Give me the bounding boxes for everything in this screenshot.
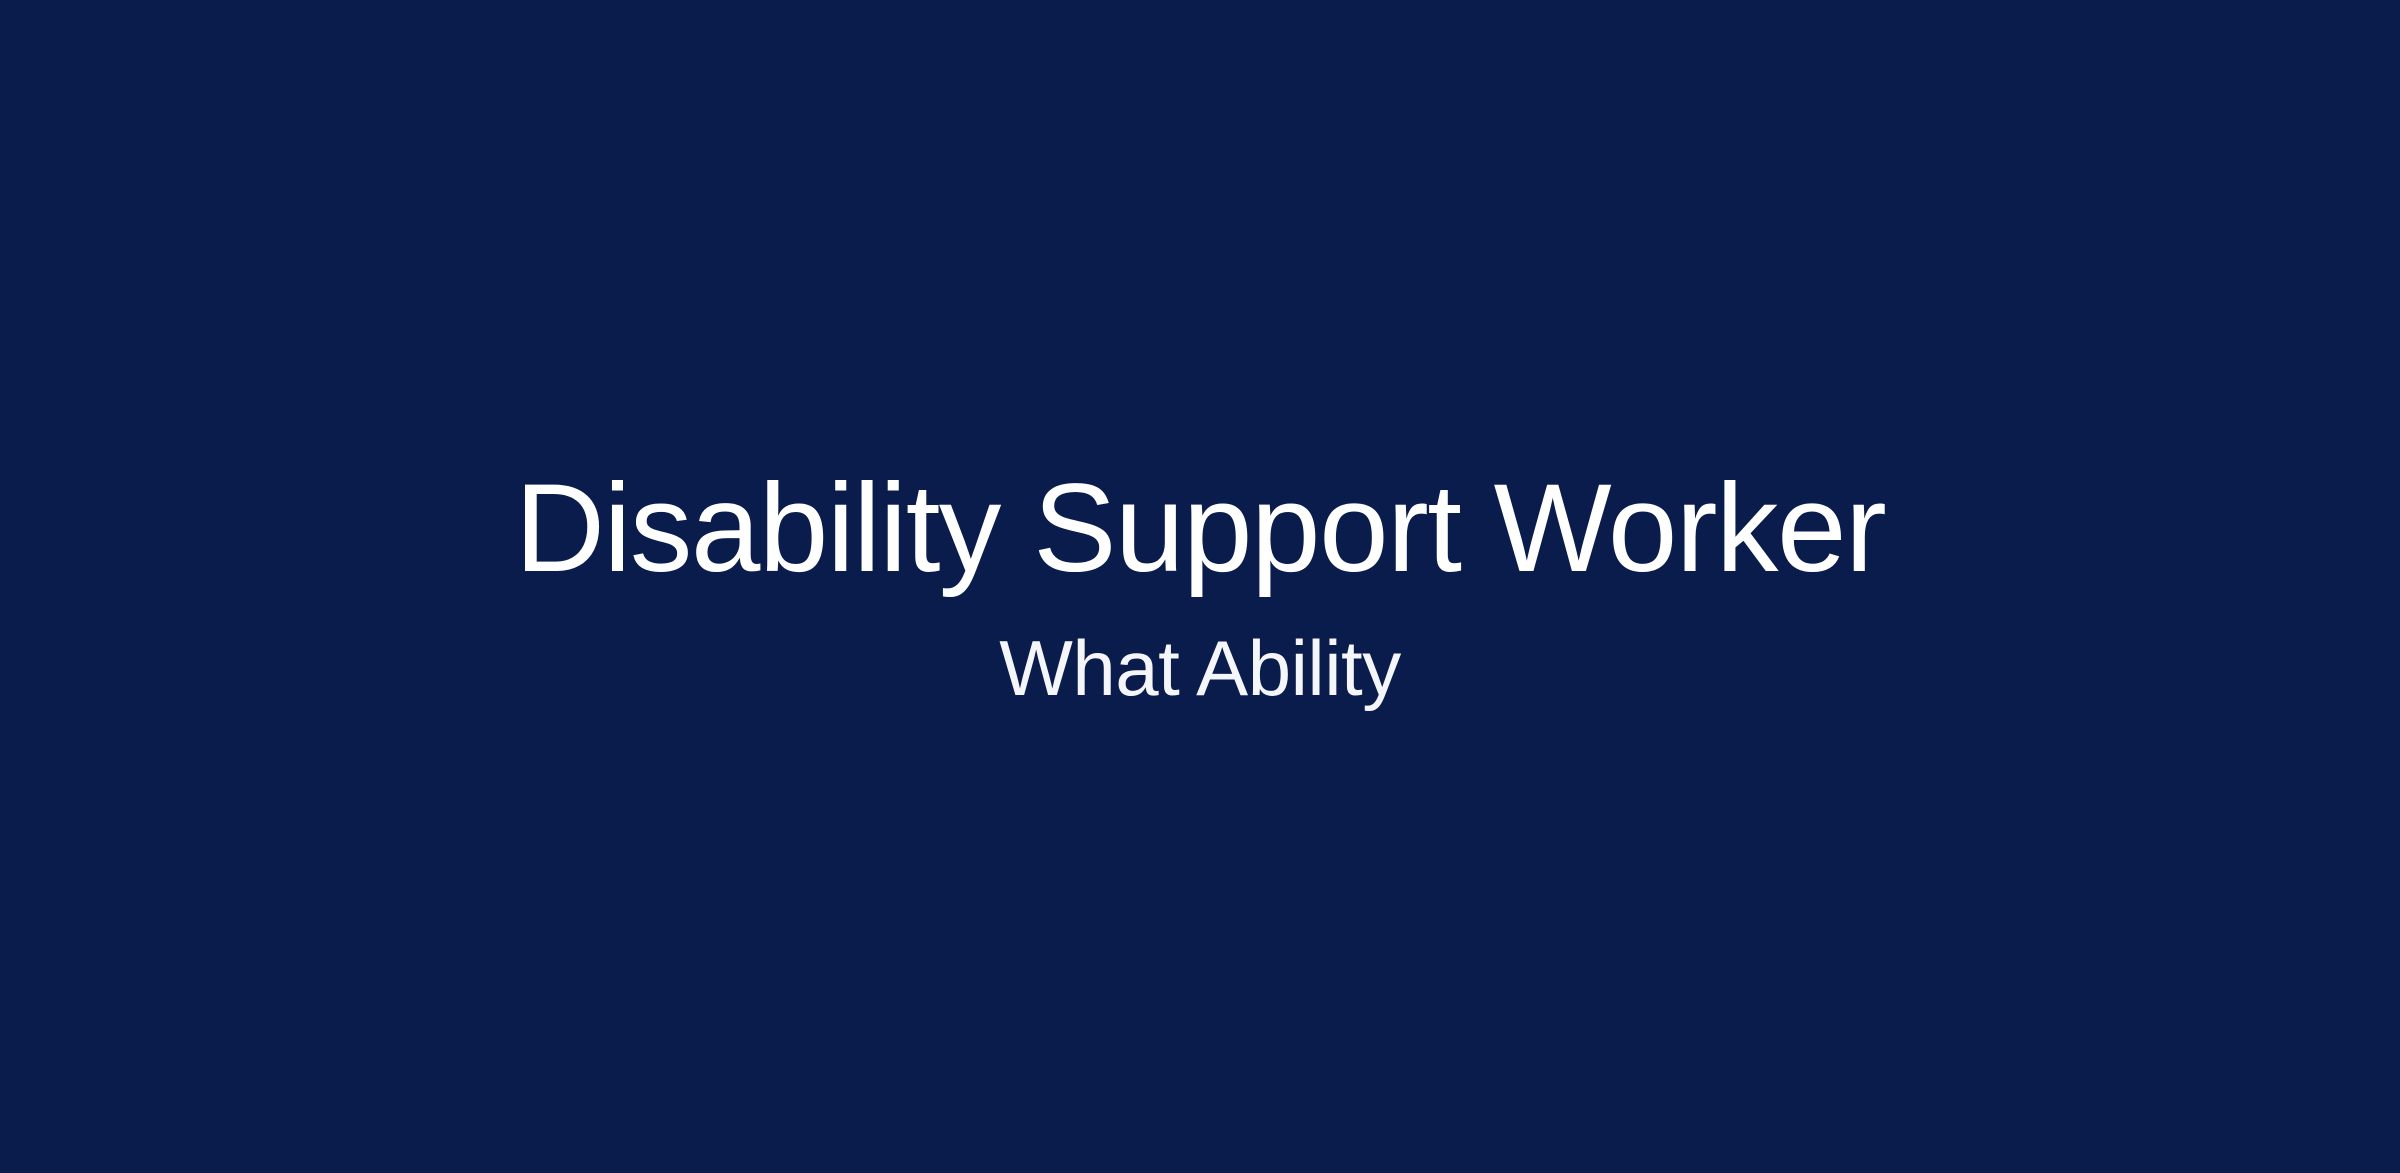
title-block: Disability Support Worker What Ability	[0, 466, 2400, 707]
page-title: Disability Support Worker	[515, 466, 1885, 591]
title-slide: Disability Support Worker What Ability	[0, 0, 2400, 1173]
page-subtitle: What Ability	[999, 629, 1400, 707]
